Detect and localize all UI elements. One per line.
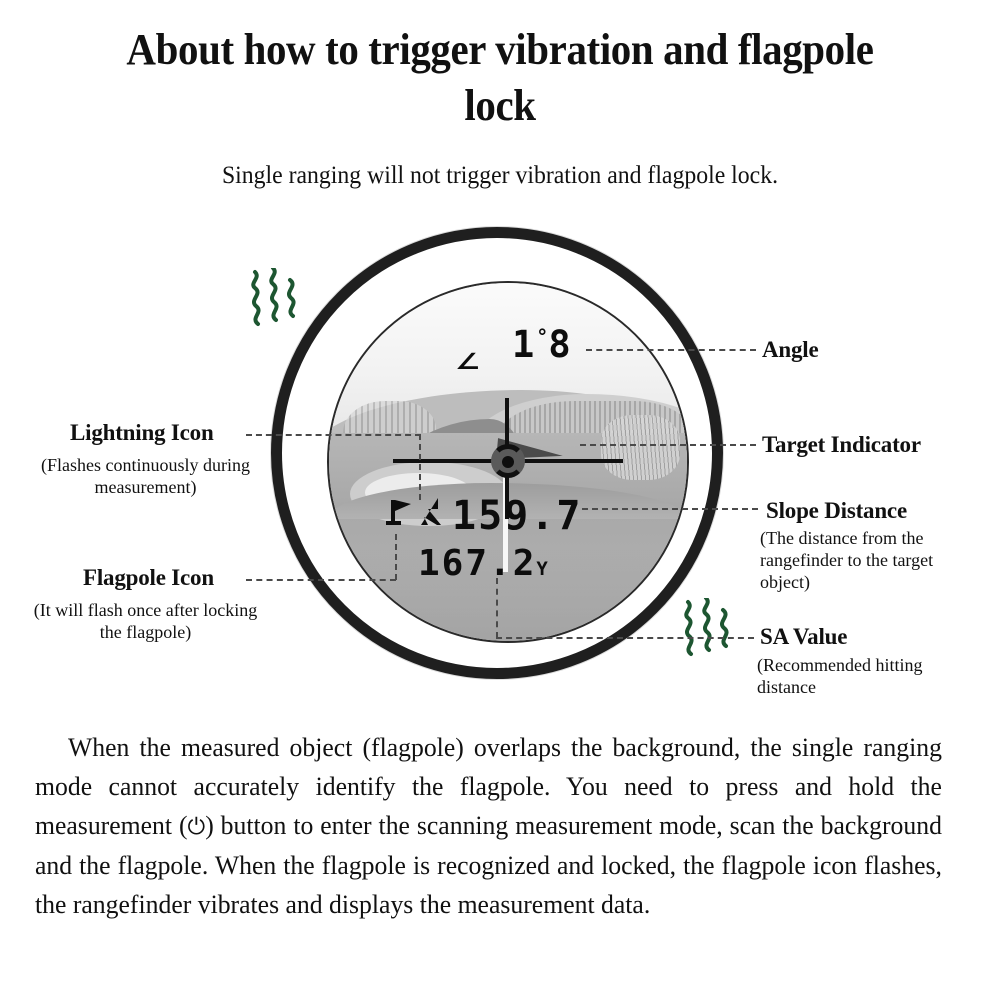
callout-lightning-label: Lightning Icon: [70, 420, 214, 446]
page-title: About how to trigger vibration and flagp…: [100, 22, 900, 135]
flagpole-icon: [386, 498, 416, 528]
page-subtitle: Single ranging will not trigger vibratio…: [82, 160, 918, 193]
leader-slope: [582, 508, 758, 510]
angle-number: 1: [512, 323, 536, 366]
power-button-icon: ⏻: [188, 814, 206, 840]
callout-lightning-note: (Flashes continuously during measurement…: [33, 455, 258, 499]
callout-target-label: Target Indicator: [762, 432, 921, 458]
rangefinder-viewfinder: [327, 281, 689, 643]
leader-lightning-v: [419, 434, 421, 500]
leader-sa-v: [496, 578, 498, 638]
leader-target: [580, 444, 756, 446]
callout-sa-label: SA Value: [760, 624, 847, 650]
callout-angle-label: Angle: [762, 337, 819, 363]
vibration-waves-right-icon: [678, 598, 738, 660]
angle-readout: 1°8: [512, 326, 573, 363]
leader-lightning-h: [246, 434, 421, 436]
sa-unit: Y: [536, 558, 547, 580]
leader-sa-h: [496, 637, 754, 639]
callout-slope-note: (The distance from the rangefinder to th…: [760, 528, 975, 594]
page-root: About how to trigger vibration and flagp…: [0, 0, 1000, 1000]
degree-symbol: °: [536, 325, 548, 349]
angle-number-2: 8: [548, 323, 572, 366]
sa-value-readout: 167.2Y: [418, 546, 548, 582]
lightning-bolt-icon: [418, 498, 444, 528]
body-paragraph: When the measured object (flagpole) over…: [35, 728, 942, 924]
slope-distance-readout: 159.7: [452, 496, 582, 536]
leader-flagpole-v: [395, 534, 397, 580]
callout-slope-label: Slope Distance: [766, 498, 907, 524]
callout-flagpole-note: (It will flash once after locking the fl…: [33, 600, 258, 644]
sa-number: 167.2: [418, 543, 536, 584]
callout-flagpole-label: Flagpole Icon: [83, 565, 214, 591]
reticle-center-dot: [502, 456, 514, 468]
vibration-waves-left-icon: [246, 268, 304, 330]
callout-sa-note: (Recommended hitting distance: [757, 655, 972, 699]
angle-icon: ∠: [455, 348, 480, 374]
leader-angle: [586, 349, 756, 351]
leader-flagpole-h: [246, 579, 396, 581]
target-indicator-reticle: [329, 283, 687, 641]
